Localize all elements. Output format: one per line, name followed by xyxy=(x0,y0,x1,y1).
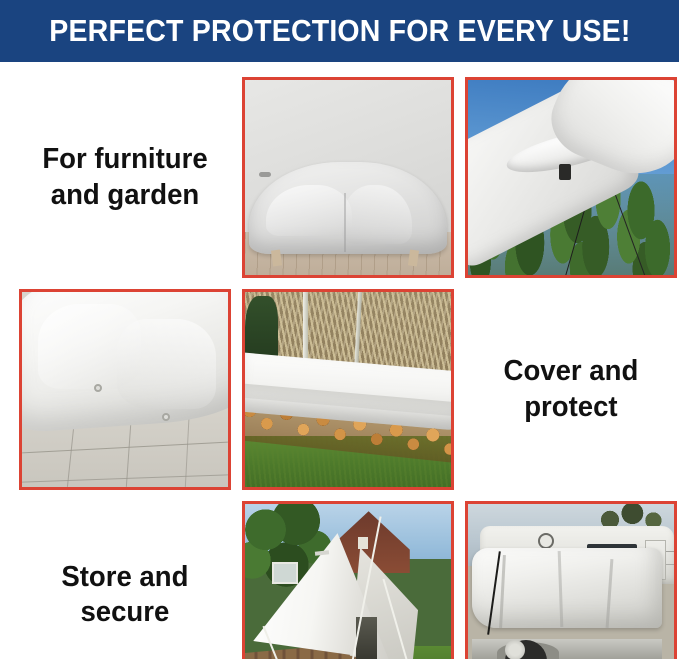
background-window xyxy=(272,562,298,584)
photo-tarp-over-plants xyxy=(465,77,677,278)
photo-white-tent xyxy=(242,501,454,659)
wall-hook xyxy=(259,172,271,177)
grommet-eyelet-1 xyxy=(94,384,102,392)
photo-covered-firewood-pile xyxy=(242,289,454,490)
scene-covered-patio-furniture xyxy=(245,80,451,275)
caption-line-1: For furniture xyxy=(42,143,207,175)
caption-cell-store-secure: Store and secure xyxy=(19,501,231,659)
caption-line-2: protect xyxy=(524,391,617,423)
photo-covered-trailer xyxy=(465,501,677,659)
caption-line-2: secure xyxy=(81,596,170,628)
caption-cell-furniture-garden: For furniture and garden xyxy=(19,77,231,278)
caption-line-1: Cover and xyxy=(504,355,639,387)
grommet-eyelet-2 xyxy=(162,413,170,421)
caption-text-block: Cover and protect xyxy=(504,354,639,425)
caption-text-block: Store and secure xyxy=(61,560,188,631)
photo-covered-patio-furniture xyxy=(242,77,454,278)
caption-line-2: and garden xyxy=(51,179,199,211)
tarpaulin-fold-side xyxy=(117,319,216,409)
banner-title: PERFECT PROTECTION FOR EVERY USE! xyxy=(49,13,630,49)
furniture-leg-left xyxy=(271,249,282,266)
caption-cell-cover-protect: Cover and protect xyxy=(465,289,677,490)
photo-tarp-with-grommets xyxy=(19,289,231,490)
header-banner: PERFECT PROTECTION FOR EVERY USE! xyxy=(0,0,679,62)
house-window xyxy=(358,537,368,549)
promotional-infographic: PERFECT PROTECTION FOR EVERY USE! For fu… xyxy=(0,0,679,659)
wheel-hub xyxy=(505,640,525,659)
caption-text-block: For furniture and garden xyxy=(42,142,207,213)
scene-tarp-with-grommets xyxy=(22,292,228,487)
caption-line-1: Store and xyxy=(61,561,188,593)
feature-grid: For furniture and garden xyxy=(0,62,679,659)
scene-white-tent xyxy=(245,504,451,659)
scene-tarp-over-plants xyxy=(468,80,674,275)
cover-seam xyxy=(344,193,346,252)
scene-covered-trailer xyxy=(468,504,674,659)
tarpaulin-clip xyxy=(559,164,571,180)
scene-covered-firewood-pile xyxy=(245,292,451,487)
